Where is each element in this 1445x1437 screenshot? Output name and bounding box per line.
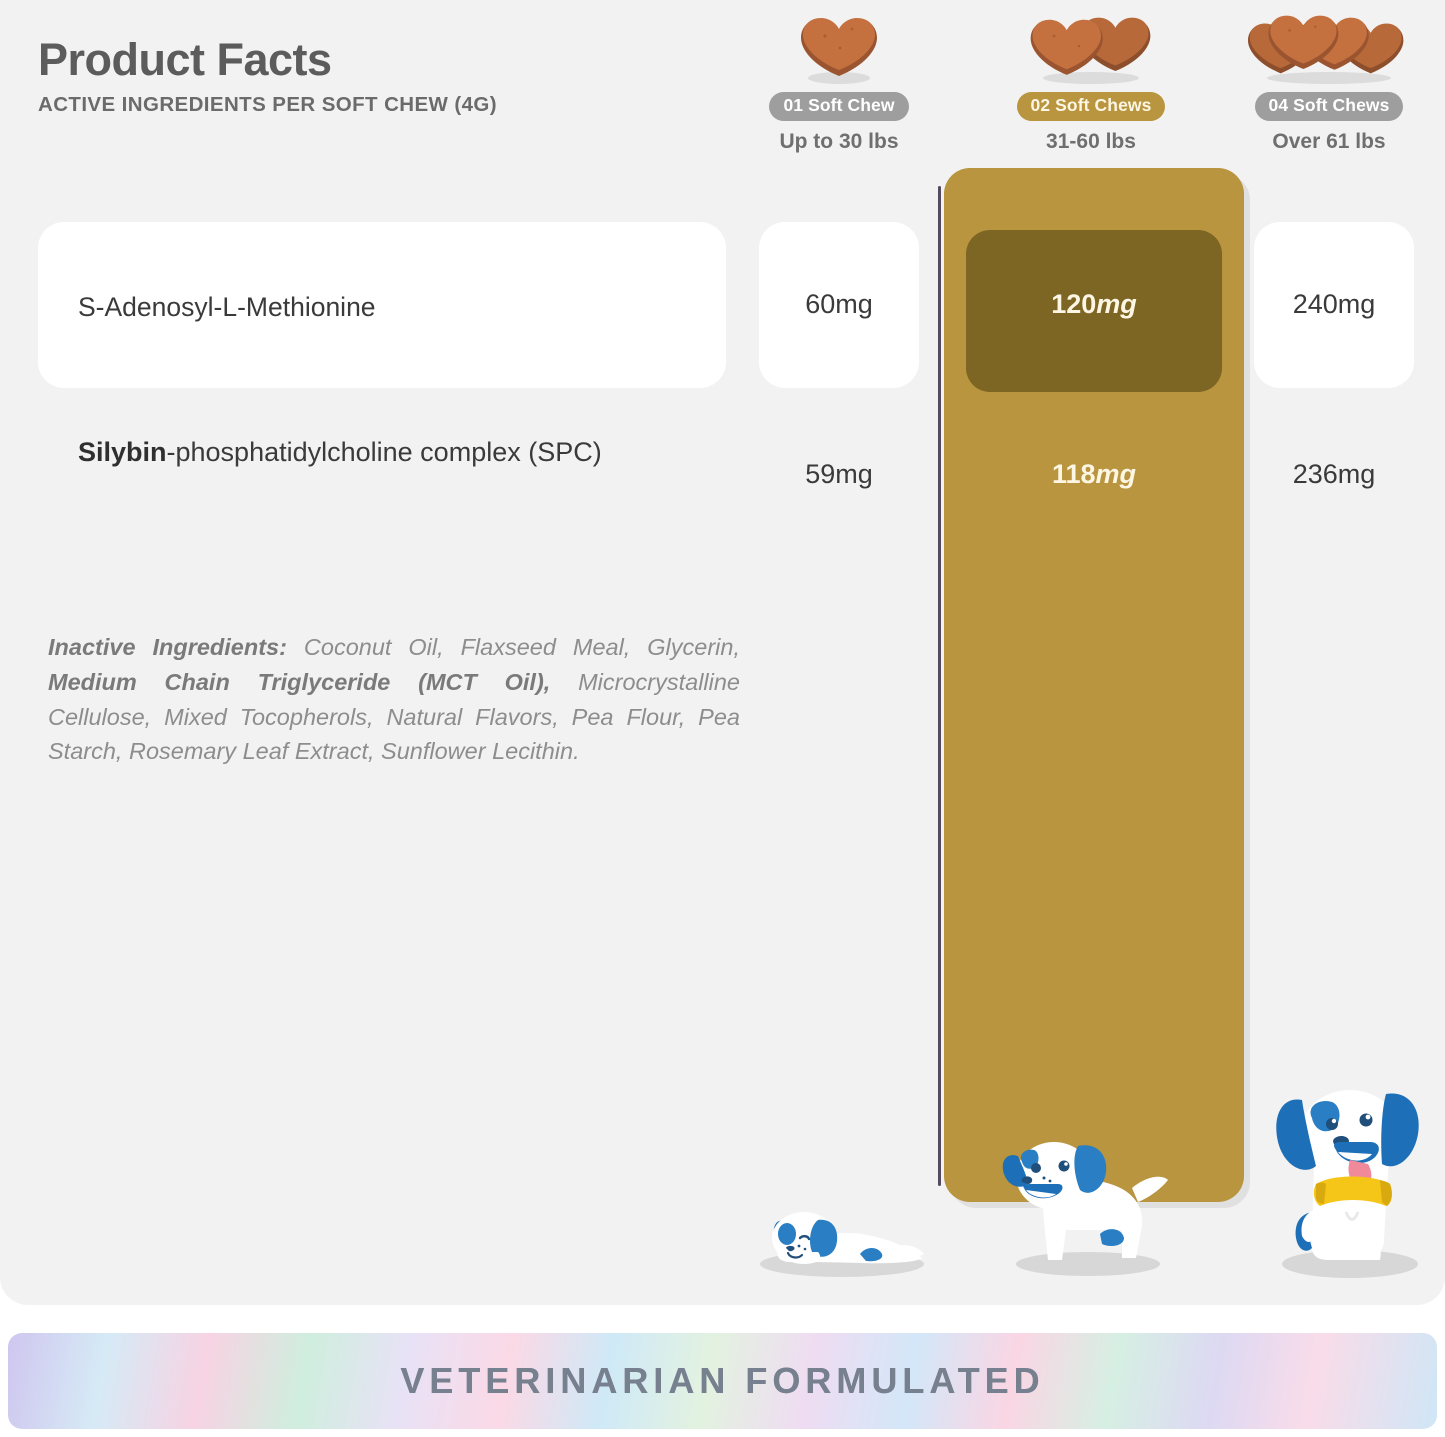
- value-number: 118: [1052, 459, 1096, 489]
- highlight-column: [944, 168, 1244, 1202]
- ingredient-1-value-col1: 60mg: [759, 289, 919, 320]
- value-number: 120: [1051, 289, 1096, 319]
- dose-badge: 04 Soft Chews: [1255, 92, 1404, 121]
- inactive-ingredients-bold: Medium Chain Triglyceride (MCT Oil),: [48, 669, 550, 695]
- value-unit: mg: [1096, 289, 1137, 319]
- banner-text: VETERINARIAN FORMULATED: [400, 1360, 1044, 1402]
- ingredient-2-value-col1: 59mg: [759, 459, 919, 490]
- dose-badge: 02 Soft Chews: [1017, 92, 1166, 121]
- soft-chew-heart-icon: [1229, 14, 1429, 86]
- dog-illustration-standing: [996, 1118, 1176, 1283]
- dose-weight-label: 31-60 lbs: [968, 130, 1214, 154]
- dog-illustration-sitting: [1254, 1072, 1444, 1287]
- ingredient-name-2-bold: Silybin: [78, 437, 167, 467]
- ingredient-1-value-col3: 240mg: [1254, 289, 1414, 320]
- ingredient-1-value-col2: 120mg: [966, 289, 1222, 320]
- product-facts-panel: Product Facts ACTIVE INGREDIENTS PER SOF…: [0, 0, 1445, 1305]
- soft-chew-heart-icon: [991, 14, 1191, 86]
- dose-weight-label: Over 61 lbs: [1206, 130, 1445, 154]
- ingredient-name-2: Silybin-phosphatidylcholine complex (SPC…: [78, 434, 678, 471]
- veterinarian-formulated-banner: VETERINARIAN FORMULATED: [8, 1333, 1437, 1429]
- dose-weight-label: Up to 30 lbs: [716, 130, 962, 154]
- dose-column-1[interactable]: 01 Soft Chew Up to 30 lbs: [716, 14, 962, 154]
- ingredient-2-value-col3: 236mg: [1254, 459, 1414, 490]
- soft-chew-heart-icon: [739, 14, 939, 86]
- ingredient-name-2-rest: -phosphatidylcholine complex (SPC): [167, 437, 602, 467]
- inactive-ingredients-part1: Coconut Oil, Flaxseed Meal, Glycerin,: [287, 634, 740, 660]
- inactive-ingredients: Inactive Ingredients: Coconut Oil, Flaxs…: [48, 630, 740, 769]
- header: Product Facts ACTIVE INGREDIENTS PER SOF…: [38, 36, 698, 117]
- ingredient-name-1: S-Adenosyl-L-Methionine: [78, 289, 678, 326]
- inactive-ingredients-label: Inactive Ingredients:: [48, 634, 287, 660]
- dose-column-3[interactable]: 04 Soft Chews Over 61 lbs: [1206, 14, 1445, 154]
- dose-column-2[interactable]: 02 Soft Chews 31-60 lbs: [968, 14, 1214, 154]
- ingredient-2-value-col2: 118mg: [966, 459, 1222, 490]
- page-title: Product Facts: [38, 36, 698, 83]
- dose-badge: 01 Soft Chew: [769, 92, 908, 121]
- value-unit: mg: [1096, 459, 1137, 489]
- page-subtitle: ACTIVE INGREDIENTS PER SOFT CHEW (4G): [38, 93, 698, 117]
- dog-illustration-lying: [742, 1168, 942, 1283]
